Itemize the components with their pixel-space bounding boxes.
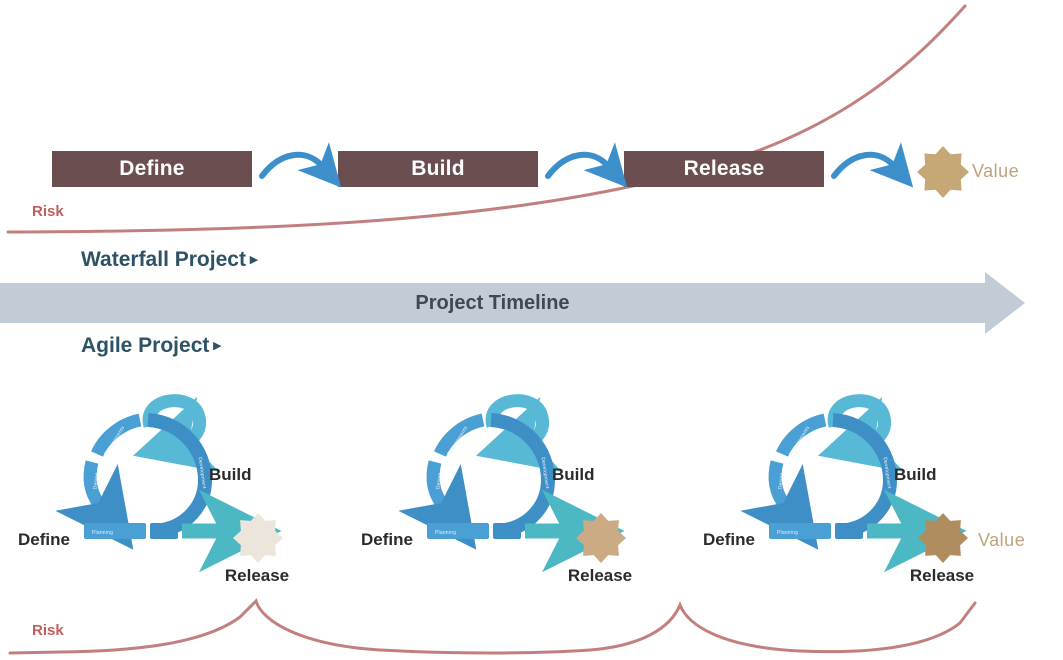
arrow-define-to-build-icon (258, 144, 338, 186)
phase-box-define[interactable]: Define (52, 151, 252, 187)
caret-right-icon: ▸ (250, 251, 258, 268)
section-label-agile[interactable]: Agile Project▸ (81, 334, 221, 358)
diagram-canvas: Risk Define Build Release (0, 0, 1063, 660)
waterfall-risk-label: Risk (32, 203, 64, 220)
phase-box-release[interactable]: Release (624, 151, 824, 187)
agile-risk-curve (0, 585, 1063, 660)
section-label-waterfall-text: Waterfall Project (81, 248, 246, 271)
cycle-2-build-label: Build (552, 465, 595, 485)
cycle-1-release-label: Release (225, 566, 289, 586)
cycle-3-build-label: Build (894, 465, 937, 485)
release-star-3-icon (917, 512, 969, 564)
phase-box-release-label: Release (684, 157, 765, 181)
waterfall-risk-curve (0, 0, 1063, 240)
cycle-3-release-label: Release (910, 566, 974, 586)
cycle-1-build-label: Build (209, 465, 252, 485)
value-star-waterfall-icon (916, 145, 970, 199)
project-timeline-label: Project Timeline (0, 272, 1025, 334)
cycle-1-define-label: Define (18, 530, 70, 550)
caret-right-icon: ▸ (213, 337, 221, 354)
phase-box-build[interactable]: Build (338, 151, 538, 187)
arrow-release-to-value-icon (830, 144, 910, 186)
cycle-2-define-label: Define (361, 530, 413, 550)
section-label-waterfall[interactable]: Waterfall Project▸ (81, 248, 257, 272)
cycle-2-release-label: Release (568, 566, 632, 586)
agile-value-label: Value (978, 530, 1025, 551)
release-star-1-icon (232, 512, 284, 564)
project-timeline: Project Timeline (0, 272, 1025, 334)
section-label-agile-text: Agile Project (81, 334, 209, 357)
waterfall-value-label: Value (972, 161, 1019, 182)
phase-box-define-label: Define (119, 157, 184, 181)
cycle-3-define-label: Define (703, 530, 755, 550)
arrow-build-to-release-icon (544, 144, 624, 186)
phase-box-build-label: Build (411, 157, 465, 181)
release-star-2-icon (575, 512, 627, 564)
agile-risk-label: Risk (32, 622, 64, 639)
